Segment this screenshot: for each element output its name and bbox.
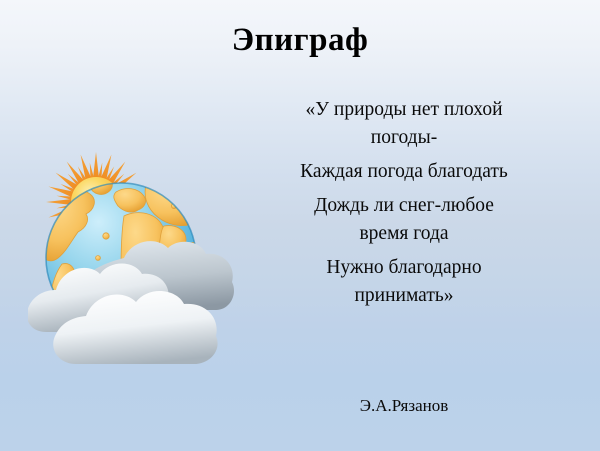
quote-line: принимать»: [248, 282, 560, 310]
page-title: Эпиграф: [0, 22, 600, 58]
quote-line: «У природы нет плохой: [248, 96, 560, 124]
sun-globe-clouds-illustration: [28, 140, 238, 372]
quote-line: время года: [248, 220, 560, 248]
slide-canvas: Эпиграф «У природы нет плохой погоды- Ка…: [0, 0, 600, 451]
quote-line: погоды-: [248, 124, 560, 152]
epigraph-quote: «У природы нет плохой погоды- Каждая пог…: [248, 96, 560, 310]
quote-line: Дождь ли снег-любое: [248, 192, 560, 220]
quote-line: Каждая погода благодать: [248, 158, 560, 186]
quote-attribution: Э.А.Рязанов: [248, 396, 560, 416]
quote-line: Нужно благодарно: [248, 254, 560, 282]
